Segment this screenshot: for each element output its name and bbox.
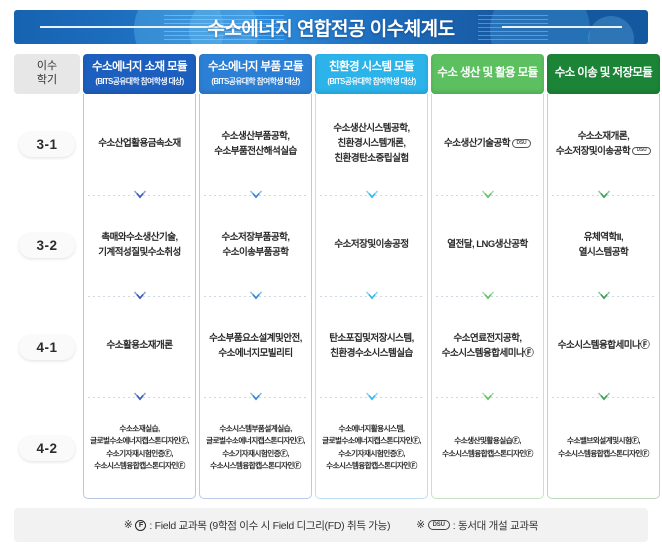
module-header-0[interactable]: 수소에너지 소재 모듈(BITS공유대학 참여학생 대상) — [83, 54, 196, 94]
chevron-down-icon — [365, 190, 378, 200]
chevron-down-icon — [249, 190, 262, 200]
course-text: 탄소포집및저장시스템,친환경수소시스템실습 — [329, 332, 414, 361]
course-line: 글로벌수소에너지캡스톤디자인Ⓕ, — [206, 435, 305, 447]
course-line: 수소소재실습, — [90, 423, 189, 435]
course-line: 수소생산기술공학DSU — [444, 137, 531, 152]
header-semester-line2: 학기 — [37, 74, 57, 88]
course-cell[interactable]: 수소저장및이송공정 — [316, 195, 427, 296]
course-text: 수소생산부품공학,수소부품전산해석실습 — [214, 130, 296, 159]
course-line: 글로벌수소에너지캡스톤디자인Ⓕ, — [90, 435, 189, 447]
course-line: 수소부품요소설계및안전, — [209, 332, 302, 347]
course-line: 수소시스템융합캡스톤디자인Ⓕ — [90, 460, 189, 472]
header-semester: 이수 학기 — [14, 54, 80, 94]
course-text: 수소에너지활용시스템,글로벌수소에너지캡스톤디자인Ⓕ,수소기자재시험인증Ⓕ,수소… — [322, 423, 421, 472]
course-text: 수소밸브외설계및시험Ⓕ,수소시스템융합캡스톤디자인Ⓕ — [558, 435, 649, 459]
course-text: 수소생산시스템공학,친환경시스템개론,친환경탄소중립실험 — [333, 122, 409, 166]
module-column-1: 수소생산부품공학,수소부품전산해석실습수소저장부품공학,수소이송부품공학수소부품… — [199, 94, 312, 499]
legend-item-dsu: ※ DSU : 동서대 개설 교과목 — [416, 518, 538, 533]
course-line: 친환경수소시스템실습 — [329, 347, 414, 362]
course-text: 수소활용소재개론 — [107, 339, 173, 354]
course-line: 수소저장및이송공정 — [334, 238, 408, 253]
course-text: 수소시스템융합세미나Ⓕ — [558, 339, 649, 354]
course-text: 수소저장부품공학,수소이송부품공학 — [221, 231, 289, 260]
course-cell[interactable]: 수소산업활용금속소재 — [84, 94, 195, 195]
course-cell[interactable]: 수소저장부품공학,수소이송부품공학 — [200, 195, 311, 296]
course-line: 수소시스템부품설계실습, — [206, 423, 305, 435]
module-column-3: 수소생산기술공학DSU열전달, LNG생산공학수소연료전지공학,수소시스템융합세… — [431, 94, 544, 499]
curriculum-diagram: 수소에너지 연합전공 이수체계도 이수 학기 수소에너지 소재 모듈(BITS공… — [0, 0, 662, 556]
course-line: 글로벌수소에너지캡스톤디자인Ⓕ, — [322, 435, 421, 447]
course-cell[interactable]: 수소시스템융합세미나Ⓕ — [548, 296, 659, 397]
legend-asterisk: ※ — [124, 519, 133, 531]
course-cell[interactable]: 수소생산시스템공학,친환경시스템개론,친환경탄소중립실험 — [316, 94, 427, 195]
dsu-badge-icon: DSU — [512, 139, 531, 148]
module-header-2[interactable]: 친환경 시스템 모듈(BITS공유대학 참여학생 대상) — [315, 54, 428, 94]
course-line: 수소시스템융합캡스톤디자인Ⓕ — [206, 460, 305, 472]
chevron-down-icon — [365, 392, 378, 402]
module-column-2: 수소생산시스템공학,친환경시스템개론,친환경탄소중립실험수소저장및이송공정탄소포… — [315, 94, 428, 499]
semester-pill-wrap: 4-2 — [14, 398, 80, 499]
module-header-title: 수소 생산 및 활용 모듈 — [437, 67, 537, 81]
page-title: 수소에너지 연합전공 이수체계도 — [14, 10, 648, 44]
course-line: 수소시스템융합캡스톤디자인Ⓕ — [442, 448, 533, 460]
semester-pill-wrap: 3-2 — [14, 195, 80, 296]
course-line: 수소시스템융합캡스톤디자인Ⓕ — [558, 448, 649, 460]
module-header-subtitle: (BITS공유대학 참여학생 대상) — [211, 76, 299, 87]
legend-field-text: : Field 교과목 (9학점 이수 시 Field 디그리(FD) 취득 가… — [149, 518, 390, 533]
field-badge-icon: F — [135, 520, 146, 531]
course-text: 수소산업활용금속소재 — [98, 137, 180, 152]
semester-pill-wrap: 4-1 — [14, 297, 80, 398]
chevron-down-icon — [597, 190, 610, 200]
course-cell[interactable]: 수소밸브외설계및시험Ⓕ,수소시스템융합캡스톤디자인Ⓕ — [548, 397, 659, 498]
course-cell[interactable]: 수소소재실습,글로벌수소에너지캡스톤디자인Ⓕ,수소기자재시험인증Ⓕ,수소시스템융… — [84, 397, 195, 498]
dsu-badge-icon: DSU — [632, 147, 651, 156]
module-column-4: 수소소재개론,수소저장및이송공학DSU유체역학II,열시스템공학수소시스템융합세… — [547, 94, 660, 499]
course-line: 수소생산부품공학, — [214, 130, 296, 145]
course-line: 열시스템공학 — [579, 246, 628, 261]
course-line: 수소시스템융합세미나Ⓕ — [558, 339, 649, 354]
dsu-badge-icon: DSU — [428, 520, 450, 530]
course-line: 수소에너지활용시스템, — [322, 423, 421, 435]
course-cell[interactable]: 수소활용소재개론 — [84, 296, 195, 397]
course-cell[interactable]: 수소생산및활용실습Ⓕ,수소시스템융합캡스톤디자인Ⓕ — [432, 397, 543, 498]
header-semester-line1: 이수 — [37, 60, 57, 74]
module-header-subtitle: (BITS공유대학 참여학생 대상) — [327, 76, 415, 87]
chevron-down-icon — [249, 392, 262, 402]
module-header-4[interactable]: 수소 이송 및 저장모듈 — [547, 54, 660, 94]
course-cell[interactable]: 수소생산부품공학,수소부품전산해석실습 — [200, 94, 311, 195]
chevron-down-icon — [365, 291, 378, 301]
chevron-down-icon — [481, 291, 494, 301]
legend-asterisk: ※ — [416, 519, 425, 531]
semester-pill: 3-2 — [19, 233, 75, 258]
course-text: 수소연료전지공학,수소시스템융합세미나Ⓕ — [442, 332, 533, 361]
course-line: 탄소포집및저장시스템, — [329, 332, 414, 347]
semester-column: 3-13-24-14-2 — [14, 94, 80, 499]
module-header-1[interactable]: 수소에너지 부품 모듈(BITS공유대학 참여학생 대상) — [199, 54, 312, 94]
course-line: 수소밸브외설계및시험Ⓕ, — [558, 435, 649, 447]
course-cell[interactable]: 수소부품요소설계및안전,수소에너지모빌리티 — [200, 296, 311, 397]
legend-dsu-text: : 동서대 개설 교과목 — [453, 518, 538, 533]
legend-item-field: ※ F : Field 교과목 (9학점 이수 시 Field 디그리(FD) … — [124, 518, 390, 533]
course-line: 수소생산시스템공학, — [333, 122, 409, 137]
course-line: 수소시스템융합캡스톤디자인Ⓕ — [322, 460, 421, 472]
curriculum-grid: 이수 학기 수소에너지 소재 모듈(BITS공유대학 참여학생 대상) 수소에너… — [14, 54, 648, 499]
course-text: 수소저장및이송공정 — [334, 238, 408, 253]
chevron-down-icon — [133, 291, 146, 301]
course-cell[interactable]: 촉매와수소생산기술,기계적성질및수소취성 — [84, 195, 195, 296]
course-cell[interactable]: 수소에너지활용시스템,글로벌수소에너지캡스톤디자인Ⓕ,수소기자재시험인증Ⓕ,수소… — [316, 397, 427, 498]
course-cell[interactable]: 수소연료전지공학,수소시스템융합세미나Ⓕ — [432, 296, 543, 397]
course-line: 수소시스템융합세미나Ⓕ — [442, 347, 533, 362]
chevron-down-icon — [597, 392, 610, 402]
course-line: 수소부품전산해석실습 — [214, 145, 296, 160]
course-line: 수소연료전지공학, — [442, 332, 533, 347]
legend: ※ F : Field 교과목 (9학점 이수 시 Field 디그리(FD) … — [14, 508, 648, 542]
module-header-title: 수소에너지 소재 모듈 — [92, 61, 187, 75]
course-text: 수소부품요소설계및안전,수소에너지모빌리티 — [209, 332, 302, 361]
module-header-3[interactable]: 수소 생산 및 활용 모듈 — [431, 54, 544, 94]
course-line: 수소활용소재개론 — [107, 339, 173, 354]
title-banner: 수소에너지 연합전공 이수체계도 — [14, 10, 648, 44]
course-cell[interactable]: 수소소재개론,수소저장및이송공학DSU — [548, 94, 659, 195]
chevron-down-icon — [481, 392, 494, 402]
course-cell[interactable]: 수소시스템부품설계실습,글로벌수소에너지캡스톤디자인Ⓕ,수소기자재시험인증Ⓕ,수… — [200, 397, 311, 498]
course-line: 수소저장부품공학, — [221, 231, 289, 246]
course-line: 수소이송부품공학 — [221, 246, 289, 261]
course-line: 수소저장및이송공학DSU — [556, 145, 651, 160]
course-line: 수소기자재시험인증Ⓕ, — [90, 448, 189, 460]
course-line: 수소에너지모빌리티 — [209, 347, 302, 362]
course-text: 수소생산및활용실습Ⓕ,수소시스템융합캡스톤디자인Ⓕ — [442, 435, 533, 459]
chevron-down-icon — [481, 190, 494, 200]
course-line: 열전달, LNG생산공학 — [447, 238, 528, 253]
course-cell[interactable]: 유체역학II,열시스템공학 — [548, 195, 659, 296]
course-text: 수소생산기술공학DSU — [444, 137, 531, 152]
course-text: 수소소재실습,글로벌수소에너지캡스톤디자인Ⓕ,수소기자재시험인증Ⓕ,수소시스템융… — [90, 423, 189, 472]
course-line: 친환경탄소중립실험 — [333, 152, 409, 167]
course-text: 수소시스템부품설계실습,글로벌수소에너지캡스톤디자인Ⓕ,수소기자재시험인증Ⓕ,수… — [206, 423, 305, 472]
course-line: 수소기자재시험인증Ⓕ, — [206, 448, 305, 460]
module-header-title: 친환경 시스템 모듈 — [329, 61, 414, 75]
course-cell[interactable]: 탄소포집및저장시스템,친환경수소시스템실습 — [316, 296, 427, 397]
module-header-subtitle: (BITS공유대학 참여학생 대상) — [95, 76, 183, 87]
module-header-title: 수소 이송 및 저장모듈 — [555, 67, 653, 81]
semester-pill: 4-1 — [19, 335, 75, 360]
chevron-down-icon — [249, 291, 262, 301]
chevron-down-icon — [597, 291, 610, 301]
course-text: 유체역학II,열시스템공학 — [579, 231, 628, 260]
semester-pill: 4-2 — [19, 436, 75, 461]
course-line: 친환경시스템개론, — [333, 137, 409, 152]
course-line: 수소생산및활용실습Ⓕ, — [442, 435, 533, 447]
semester-pill-wrap: 3-1 — [14, 94, 80, 195]
course-line: 수소산업활용금속소재 — [98, 137, 180, 152]
course-text: 열전달, LNG생산공학 — [447, 238, 528, 253]
course-line: 유체역학II, — [579, 231, 628, 246]
course-cell[interactable]: 수소생산기술공학DSU — [432, 94, 543, 195]
semester-pill: 3-1 — [19, 132, 75, 157]
course-line: 기계적성질및수소취성 — [98, 246, 180, 261]
module-header-title: 수소에너지 부품 모듈 — [208, 61, 303, 75]
course-line: 수소기자재시험인증Ⓕ, — [322, 448, 421, 460]
module-column-0: 수소산업활용금속소재촉매와수소생산기술,기계적성질및수소취성수소활용소재개론수소… — [83, 94, 196, 499]
course-line: 촉매와수소생산기술, — [98, 231, 180, 246]
chevron-down-icon — [133, 392, 146, 402]
course-cell[interactable]: 열전달, LNG생산공학 — [432, 195, 543, 296]
course-text: 촉매와수소생산기술,기계적성질및수소취성 — [98, 231, 180, 260]
course-text: 수소소재개론,수소저장및이송공학DSU — [556, 130, 651, 159]
chevron-down-icon — [133, 190, 146, 200]
course-line: 수소소재개론, — [556, 130, 651, 145]
